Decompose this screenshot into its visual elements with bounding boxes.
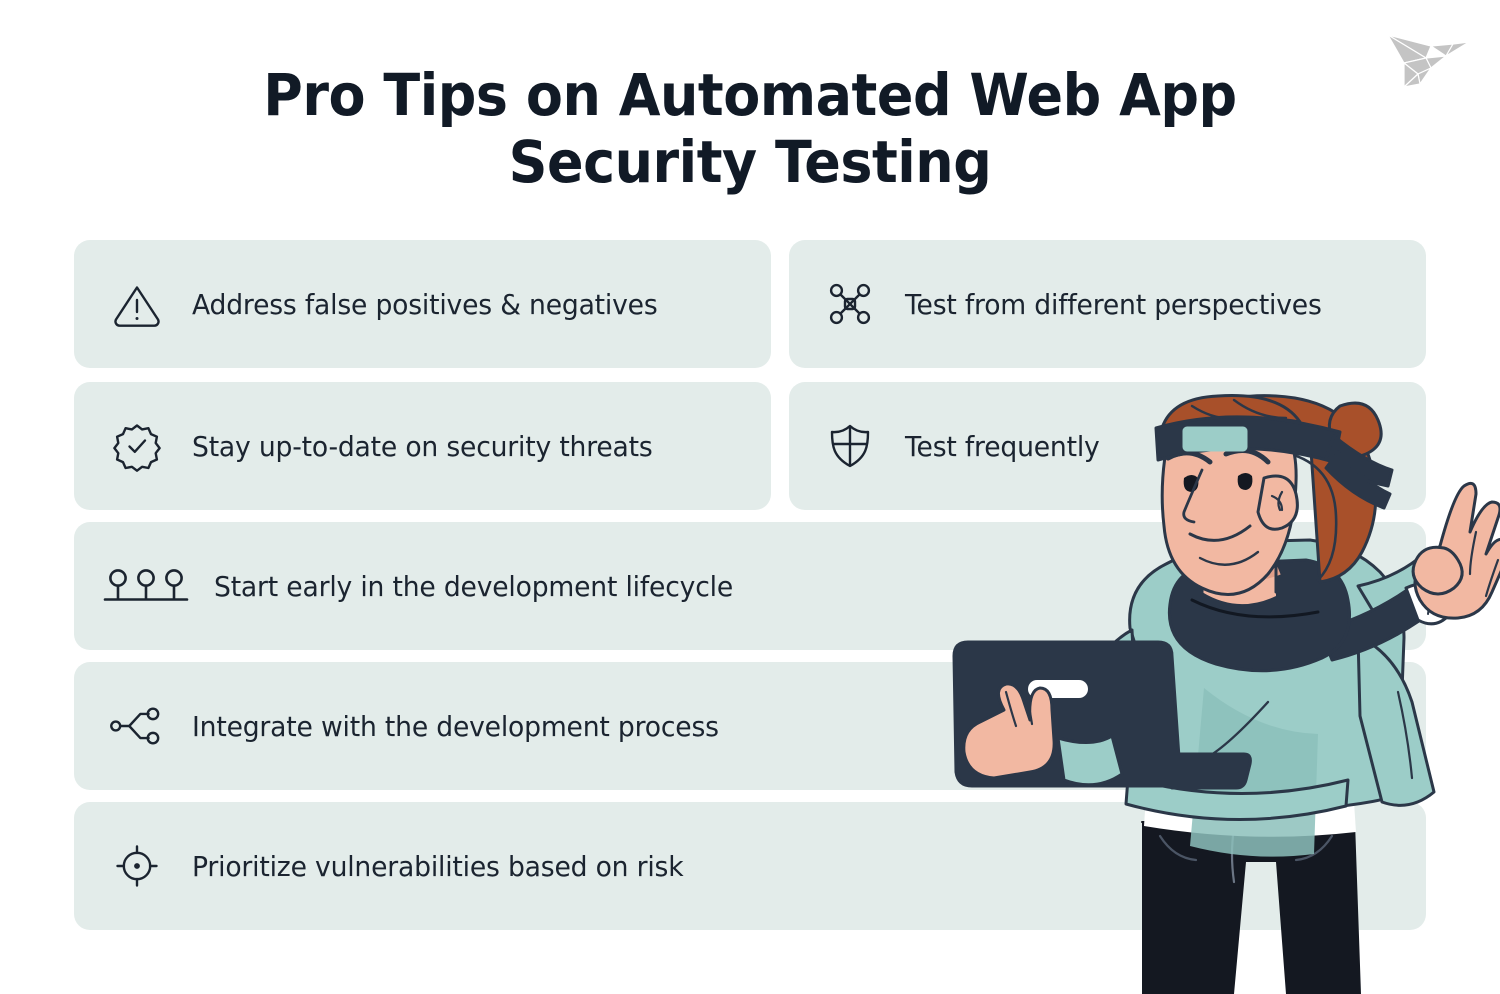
tip-card-test-frequently: Test frequently (789, 382, 1426, 510)
tip-label: Address false positives & negatives (192, 288, 658, 321)
origami-bird-logo-icon (1374, 18, 1478, 96)
tip-label: Start early in the development lifecycle (214, 570, 733, 603)
git-branch-icon (108, 697, 166, 755)
crosshair-target-icon (108, 837, 166, 895)
tip-card-perspectives: Test from different perspectives (789, 240, 1426, 368)
page-title: Pro Tips on Automated Web App Security T… (155, 62, 1345, 197)
network-nodes-icon (821, 275, 879, 333)
tip-card-prioritize: Prioritize vulnerabilities based on risk (74, 802, 1426, 930)
tip-label: Test frequently (905, 430, 1100, 463)
verified-badge-icon (108, 417, 166, 475)
tip-card-start-early: Start early in the development lifecycle (74, 522, 1426, 650)
tip-label: Integrate with the development process (192, 710, 719, 743)
infographic-page: Pro Tips on Automated Web App Security T… (0, 0, 1500, 994)
milestones-icon (98, 557, 196, 615)
tip-card-integrate: Integrate with the development process (74, 662, 1426, 790)
shield-icon (821, 417, 879, 475)
tip-label: Test from different perspectives (905, 288, 1322, 321)
tip-card-false-positives: Address false positives & negatives (74, 240, 771, 368)
warning-triangle-icon (108, 275, 166, 333)
tip-card-up-to-date: Stay up-to-date on security threats (74, 382, 771, 510)
tip-label: Stay up-to-date on security threats (192, 430, 653, 463)
tip-label: Prioritize vulnerabilities based on risk (192, 850, 683, 883)
